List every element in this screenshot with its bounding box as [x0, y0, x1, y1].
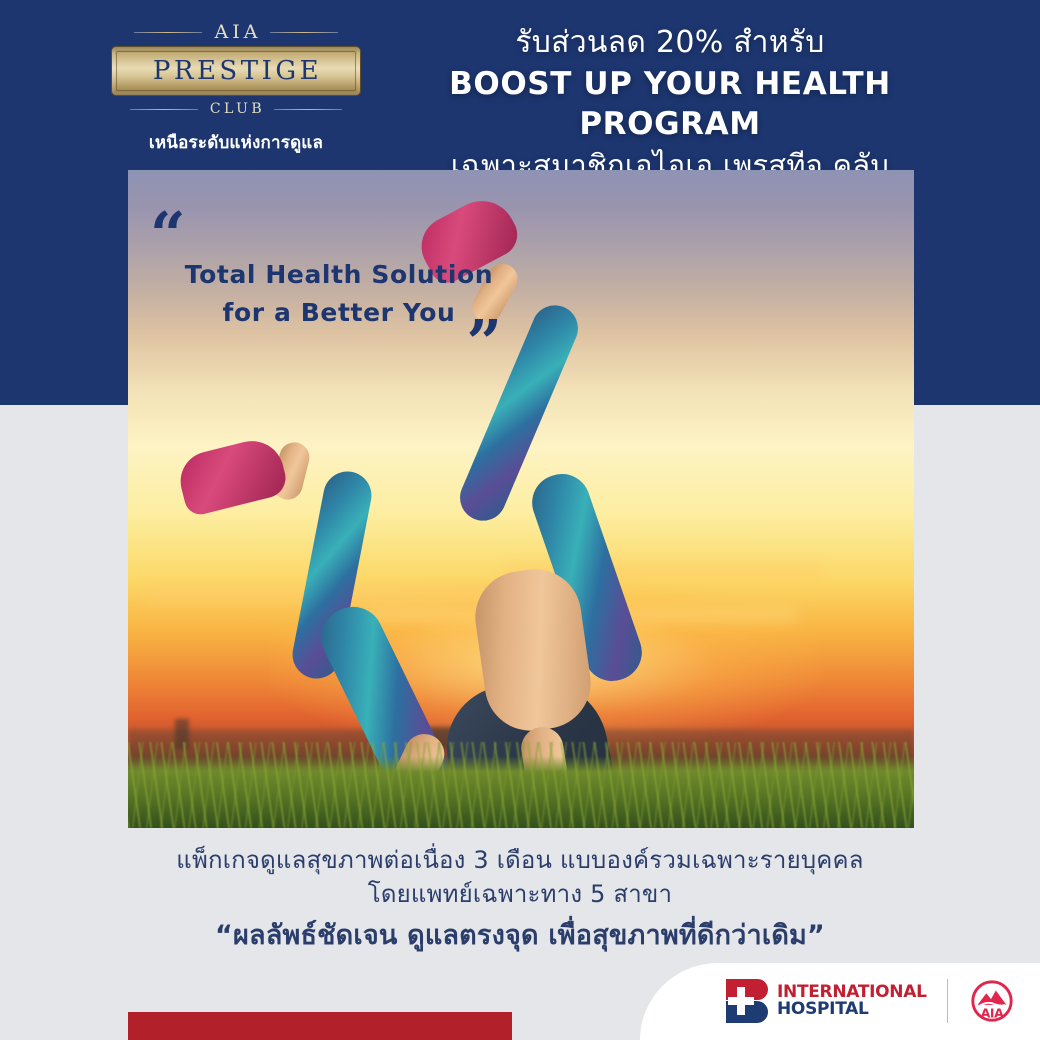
- headline-line-2: BOOST UP YOUR HEALTH PROGRAM: [360, 64, 980, 144]
- headline-block: รับส่วนลด 20% สำหรับ BOOST UP YOUR HEALT…: [360, 22, 980, 186]
- body-copy-line-1: แพ็กเกจดูแลสุขภาพต่อเนื่อง 3 เดือน แบบอง…: [120, 843, 920, 877]
- quote-line-1: Total Health Solution: [150, 256, 510, 294]
- body-copy-block: แพ็กเกจดูแลสุขภาพต่อเนื่อง 3 เดือน แบบอง…: [120, 843, 920, 954]
- aia-logo-icon: AIA: [968, 977, 1016, 1025]
- quote-overlay: “ Total Health Solution for a Better You…: [150, 218, 510, 358]
- partner-divider: [947, 979, 948, 1023]
- partner-logo-row: INTERNATIONAL HOSPITAL AIA: [724, 977, 1016, 1025]
- quote-close-mark-icon: ”: [150, 328, 510, 358]
- bangkok-international-hospital-logo: INTERNATIONAL HOSPITAL: [724, 978, 927, 1024]
- hospital-b-cross-icon: [724, 978, 770, 1024]
- body-copy-line-2: โดยแพทย์เฉพาะทาง 5 สาขา: [120, 877, 920, 911]
- logo-rule-right-icon: [270, 32, 338, 33]
- promotional-poster: AIA PRESTIGE CLUB เหนือระดับแห่งการดูแล …: [0, 0, 1040, 1040]
- logo-aia-text: AIA: [211, 21, 262, 43]
- logo-rule-right-lower-icon: [274, 109, 342, 110]
- aia-prestige-club-logo: AIA PRESTIGE CLUB เหนือระดับแห่งการดูแล: [112, 22, 360, 156]
- red-accent-block: [128, 1012, 512, 1040]
- svg-text:AIA: AIA: [980, 1005, 1003, 1020]
- logo-rule-left-lower-icon: [130, 109, 198, 110]
- brand-tagline: เหนือระดับแห่งการดูแล: [112, 129, 360, 156]
- logo-prestige-text: PRESTIGE: [150, 56, 322, 86]
- logo-club-text: CLUB: [207, 101, 265, 117]
- athlete-right-shoe: [174, 434, 289, 517]
- logo-bottom-row: CLUB: [112, 98, 360, 120]
- hospital-name-line-2: HOSPITAL: [777, 1001, 927, 1018]
- grass-blades: [128, 742, 914, 828]
- body-copy-line-3: “ผลลัพธ์ชัดเจน ดูแลตรงจุด เพื่อสุขภาพที่…: [120, 918, 920, 954]
- logo-gold-plaque: PRESTIGE: [112, 47, 360, 95]
- headline-line-1: รับส่วนลด 20% สำหรับ: [360, 22, 980, 64]
- quote-open-mark-icon: “: [150, 218, 510, 256]
- quote-line-2: for a Better You: [150, 294, 510, 332]
- logo-rule-left-icon: [134, 32, 202, 33]
- partner-logo-panel: INTERNATIONAL HOSPITAL AIA: [640, 963, 1040, 1040]
- hospital-cross-horizontal: [728, 997, 754, 1005]
- hospital-wordmark: INTERNATIONAL HOSPITAL: [777, 984, 927, 1018]
- logo-top-row: AIA: [112, 22, 360, 42]
